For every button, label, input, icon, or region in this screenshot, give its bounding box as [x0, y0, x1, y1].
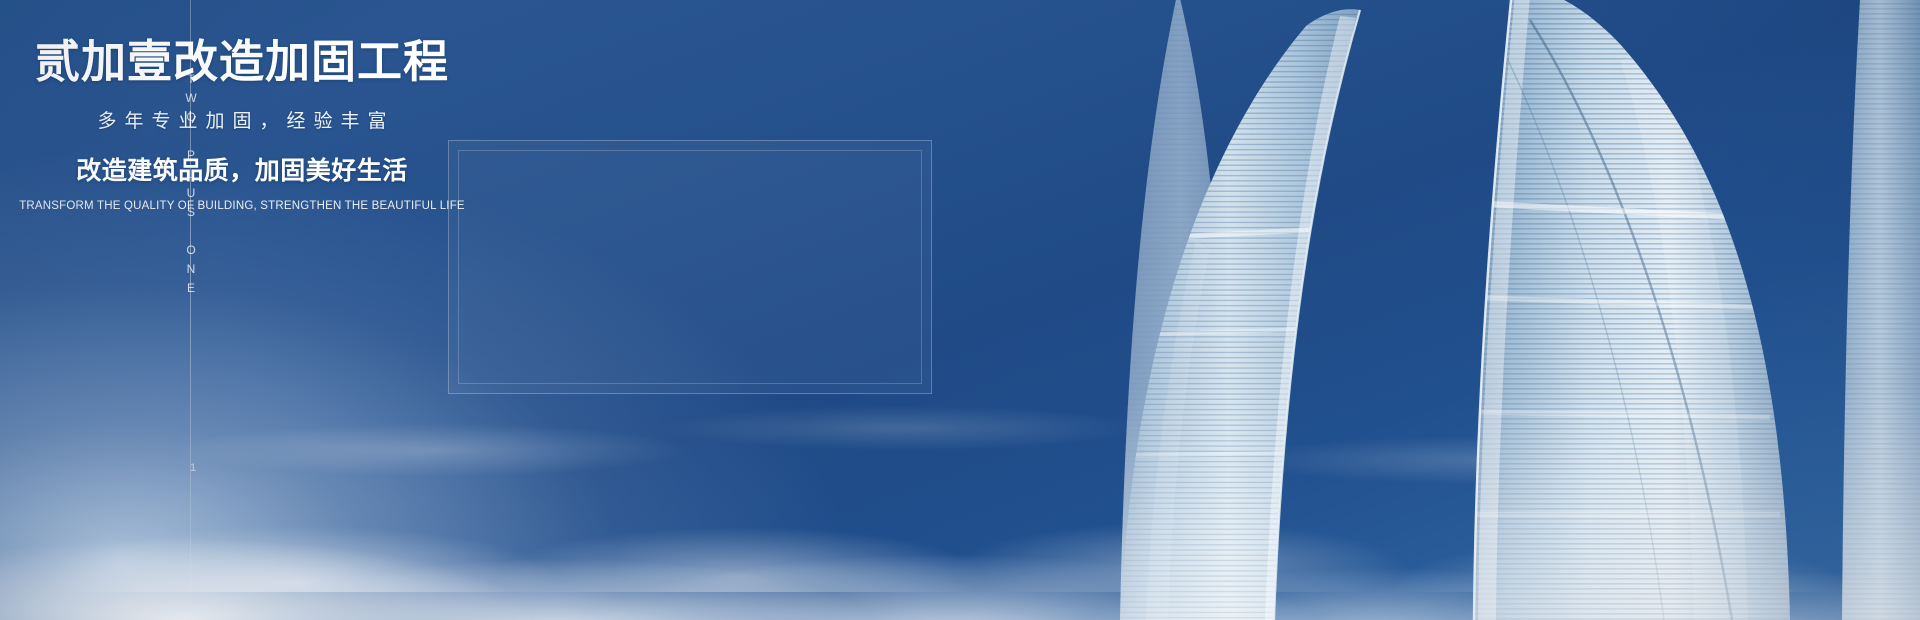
hero-tagline-english: TRANSFORM THE QUALITY OF BUILDING, STREN…	[19, 200, 465, 214]
hero-headline-stack: 贰加壹改造加固工程 多年专业加固，经验丰富 改造建筑品质，加固美好生活 TRAN…	[0, 0, 484, 254]
tower-right	[1460, 0, 1800, 620]
tower-far-right	[1830, 0, 1920, 620]
slide-index-label: 1	[183, 462, 199, 476]
hero-banner: TWO PLUS ONE 1 贰加壹改造加固工程 多年专业加固，经验丰富 改造建…	[0, 0, 1920, 620]
cloud-layer-low	[0, 320, 1920, 620]
cloud-layer-mid	[0, 332, 1920, 592]
cloud-layer-wisp	[0, 300, 1920, 490]
hero-title: 贰加壹改造加固工程	[35, 38, 449, 85]
skyline-towers	[1060, 0, 1920, 620]
hero-slogan: 改造建筑品质，加固美好生活	[76, 156, 408, 186]
tower-distant-left	[1100, 0, 1260, 620]
hero-subtitle: 多年专业加固，经验丰富	[89, 111, 394, 134]
hero-content-box-inner-border	[458, 150, 922, 384]
tower-left	[1100, 0, 1380, 620]
hero-content-box	[448, 140, 932, 394]
